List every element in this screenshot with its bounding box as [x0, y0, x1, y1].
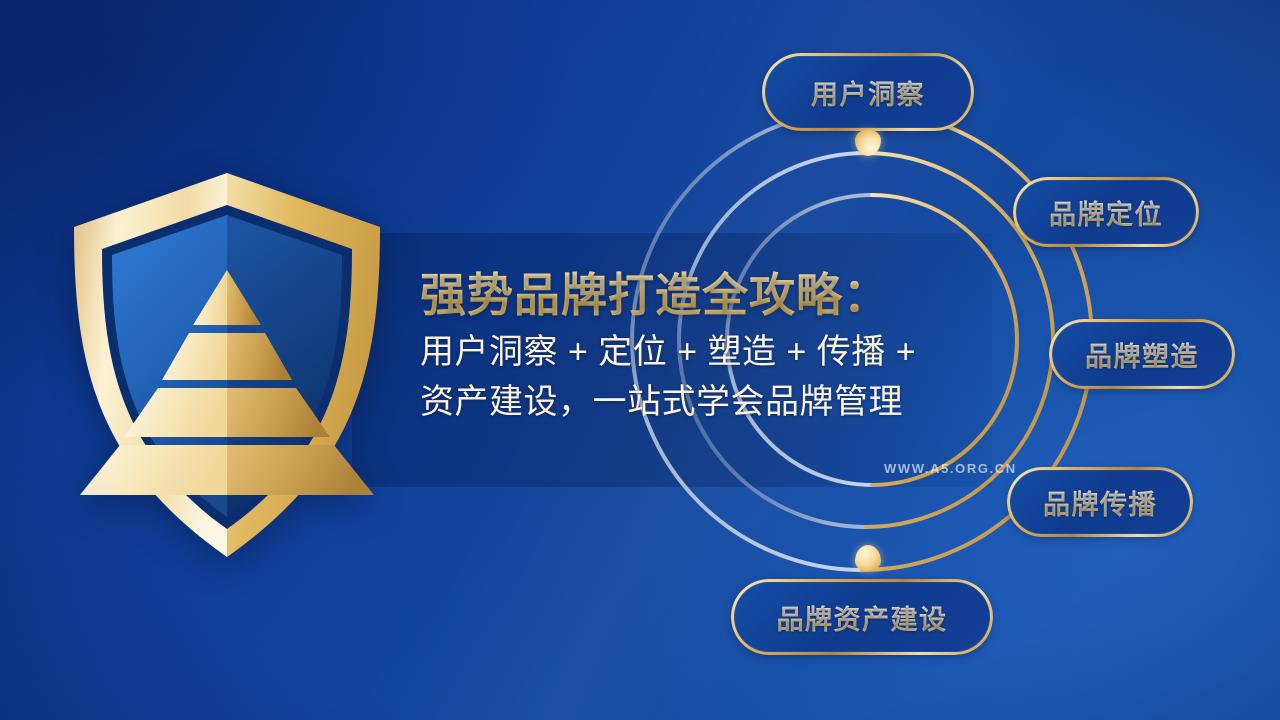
node-brand-shaping[interactable]: 品牌塑造 [1052, 322, 1232, 386]
subtitle-line-1: 用户洞察 + 定位 + 塑造 + 传播 + [420, 328, 1040, 378]
node-brand-asset-building[interactable]: 品牌资产建设 [734, 582, 990, 652]
droplet-marker-bottom [855, 545, 881, 575]
node-user-insight[interactable]: 用户洞察 [765, 56, 971, 128]
node-brand-positioning[interactable]: 品牌定位 [1016, 180, 1196, 244]
node-label: 品牌传播 [1043, 483, 1157, 522]
node-label: 品牌塑造 [1085, 335, 1199, 374]
shield-icon [62, 165, 392, 565]
shield-pyramid-logo [62, 165, 392, 565]
poster-canvas: 用户洞察 品牌定位 品牌塑造 品牌传播 品牌资产建设 [0, 0, 1280, 720]
node-label: 用户洞察 [811, 73, 925, 112]
page-title: 强势品牌打造全攻略： [420, 268, 1040, 322]
droplet-marker-top [855, 130, 881, 160]
copy-block: 强势品牌打造全攻略： 用户洞察 + 定位 + 塑造 + 传播 + 资产建设，一站… [420, 268, 1040, 428]
node-brand-communication[interactable]: 品牌传播 [1010, 470, 1190, 534]
page-subtitle: 用户洞察 + 定位 + 塑造 + 传播 + 资产建设，一站式学会品牌管理 [420, 328, 1040, 427]
node-label: 品牌定位 [1049, 193, 1163, 232]
subtitle-line-2: 资产建设，一站式学会品牌管理 [420, 378, 1040, 428]
node-label: 品牌资产建设 [777, 598, 948, 637]
